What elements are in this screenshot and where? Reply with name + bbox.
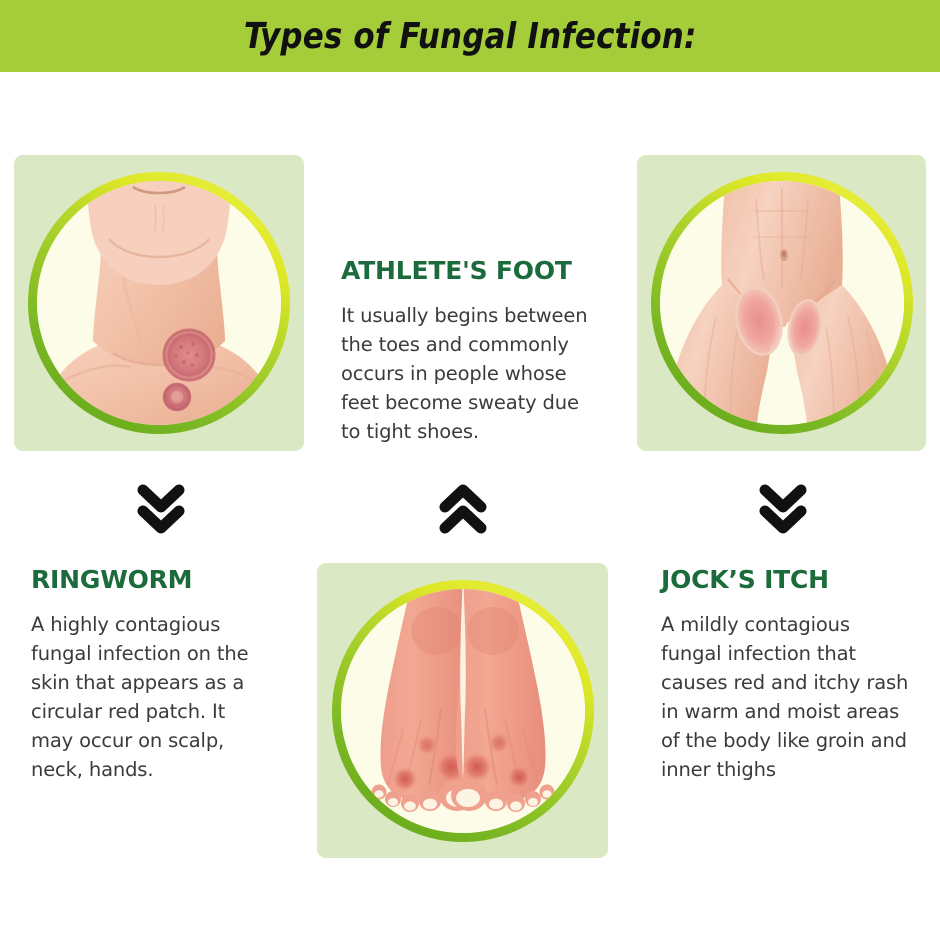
page-title: Types of Fungal Infection: bbox=[244, 16, 697, 57]
feet-illustration-svg bbox=[341, 589, 585, 833]
section-athletes-foot: ATHLETE'S FOOT It usually begins between… bbox=[341, 256, 603, 446]
athletes-foot-ring bbox=[332, 580, 594, 842]
double-chevron-down-icon bbox=[133, 480, 189, 540]
athletes-foot-title: ATHLETE'S FOOT bbox=[341, 256, 603, 285]
ringworm-image-card bbox=[14, 155, 304, 451]
header-banner: Types of Fungal Infection: bbox=[0, 0, 940, 72]
jocks-itch-ring bbox=[651, 172, 913, 434]
double-chevron-down-icon bbox=[755, 480, 811, 540]
jocks-itch-title: JOCK’S ITCH bbox=[661, 565, 911, 594]
feet-illustration bbox=[341, 589, 585, 833]
groin-illustration bbox=[660, 181, 904, 425]
athletes-foot-body: It usually begins between the toes and c… bbox=[341, 301, 603, 446]
jocks-itch-body: A mildly contagious fungal infection tha… bbox=[661, 610, 911, 784]
section-ringworm: RINGWORM A highly contagious fungal infe… bbox=[31, 565, 256, 784]
jocks-itch-image-card bbox=[637, 155, 926, 451]
ringworm-title: RINGWORM bbox=[31, 565, 256, 594]
arrow-center bbox=[435, 480, 491, 540]
ringworm-ring bbox=[28, 172, 290, 434]
neck-illustration-svg bbox=[37, 181, 281, 425]
arrow-right bbox=[755, 480, 811, 540]
groin-illustration-svg bbox=[660, 181, 904, 425]
athletes-foot-image-card bbox=[317, 563, 608, 858]
ringworm-body: A highly contagious fungal infection on … bbox=[31, 610, 256, 784]
double-chevron-up-icon bbox=[435, 480, 491, 540]
section-jocks-itch: JOCK’S ITCH A mildly contagious fungal i… bbox=[661, 565, 911, 784]
neck-illustration bbox=[37, 181, 281, 425]
arrow-left bbox=[133, 480, 189, 540]
